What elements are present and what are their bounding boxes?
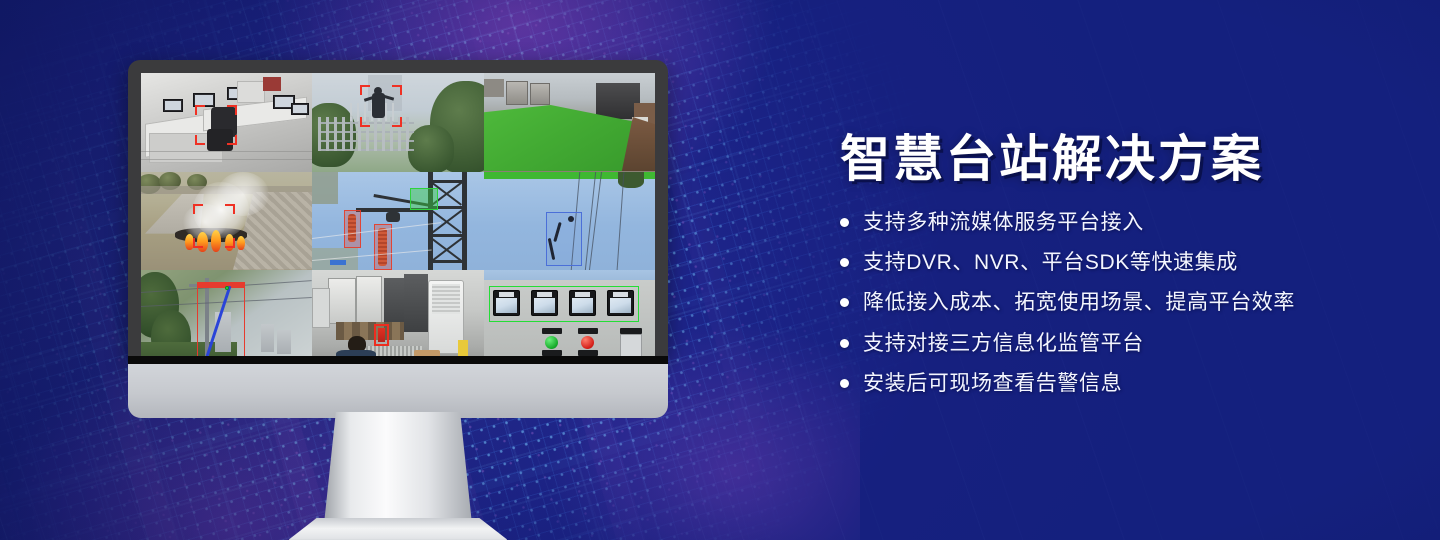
banner-copy: 智慧台站解决方案 支持多种流媒体服务平台接入 支持DVR、NVR、平台SDK等快… bbox=[840, 132, 1400, 411]
detection-bracket-red bbox=[195, 105, 237, 145]
list-item: 支持多种流媒体服务平台接入 bbox=[840, 210, 1400, 235]
video-cell-control-panel[interactable] bbox=[484, 270, 655, 360]
monitor-bottom-bezel bbox=[128, 356, 668, 418]
monitor-stand-neck bbox=[324, 412, 472, 524]
bullet-dot-icon bbox=[840, 379, 849, 388]
detection-box-green bbox=[410, 188, 438, 210]
detection-box-red bbox=[374, 324, 389, 346]
video-cell-transmission-tower[interactable] bbox=[312, 172, 483, 271]
list-item: 支持对接三方信息化监管平台 bbox=[840, 331, 1400, 356]
solution-banner: 智慧台站解决方案 支持多种流媒体服务平台接入 支持DVR、NVR、平台SDK等快… bbox=[0, 0, 1440, 540]
feature-text: 降低接入成本、拓宽使用场景、提高平台效率 bbox=[863, 290, 1295, 315]
video-cell-green-tarp-yard[interactable] bbox=[484, 73, 655, 172]
video-cell-fence-intrusion[interactable] bbox=[312, 73, 483, 172]
feature-text: 支持多种流媒体服务平台接入 bbox=[863, 210, 1144, 235]
list-item: 支持DVR、NVR、平台SDK等快速集成 bbox=[840, 250, 1400, 275]
video-cell-utility-pole[interactable] bbox=[141, 270, 312, 360]
page-title: 智慧台站解决方案 bbox=[840, 132, 1400, 186]
detection-box-red bbox=[197, 282, 245, 360]
feature-text: 安装后可现场查看告警信息 bbox=[863, 371, 1122, 396]
feature-text: 支持对接三方信息化监管平台 bbox=[863, 331, 1144, 356]
monitor-bezel bbox=[128, 60, 668, 360]
detection-box-red bbox=[344, 210, 361, 248]
bullet-dot-icon bbox=[840, 298, 849, 307]
list-item: 降低接入成本、拓宽使用场景、提高平台效率 bbox=[840, 290, 1400, 315]
video-wall-grid bbox=[141, 73, 655, 360]
detection-box-blue bbox=[546, 212, 582, 266]
monitor-screen bbox=[141, 73, 655, 360]
monitor-stand-base bbox=[288, 518, 508, 540]
bullet-dot-icon bbox=[840, 339, 849, 348]
bullet-dot-icon bbox=[840, 218, 849, 227]
video-cell-power-lines[interactable] bbox=[484, 172, 655, 271]
video-cell-equipment-room[interactable] bbox=[312, 270, 483, 360]
feature-list: 支持多种流媒体服务平台接入 支持DVR、NVR、平台SDK等快速集成 降低接入成… bbox=[840, 210, 1400, 396]
indicator-lamp-red bbox=[581, 336, 594, 349]
indicator-lamp-green bbox=[545, 336, 558, 349]
video-cell-office-control-room[interactable] bbox=[141, 73, 312, 172]
video-cell-fire-smoke[interactable] bbox=[141, 172, 312, 271]
desktop-monitor bbox=[128, 60, 668, 490]
bullet-dot-icon bbox=[840, 258, 849, 267]
detection-bracket-red bbox=[360, 85, 402, 127]
detection-bracket-red bbox=[193, 204, 235, 248]
feature-text: 支持DVR、NVR、平台SDK等快速集成 bbox=[863, 250, 1238, 275]
list-item: 安装后可现场查看告警信息 bbox=[840, 371, 1400, 396]
